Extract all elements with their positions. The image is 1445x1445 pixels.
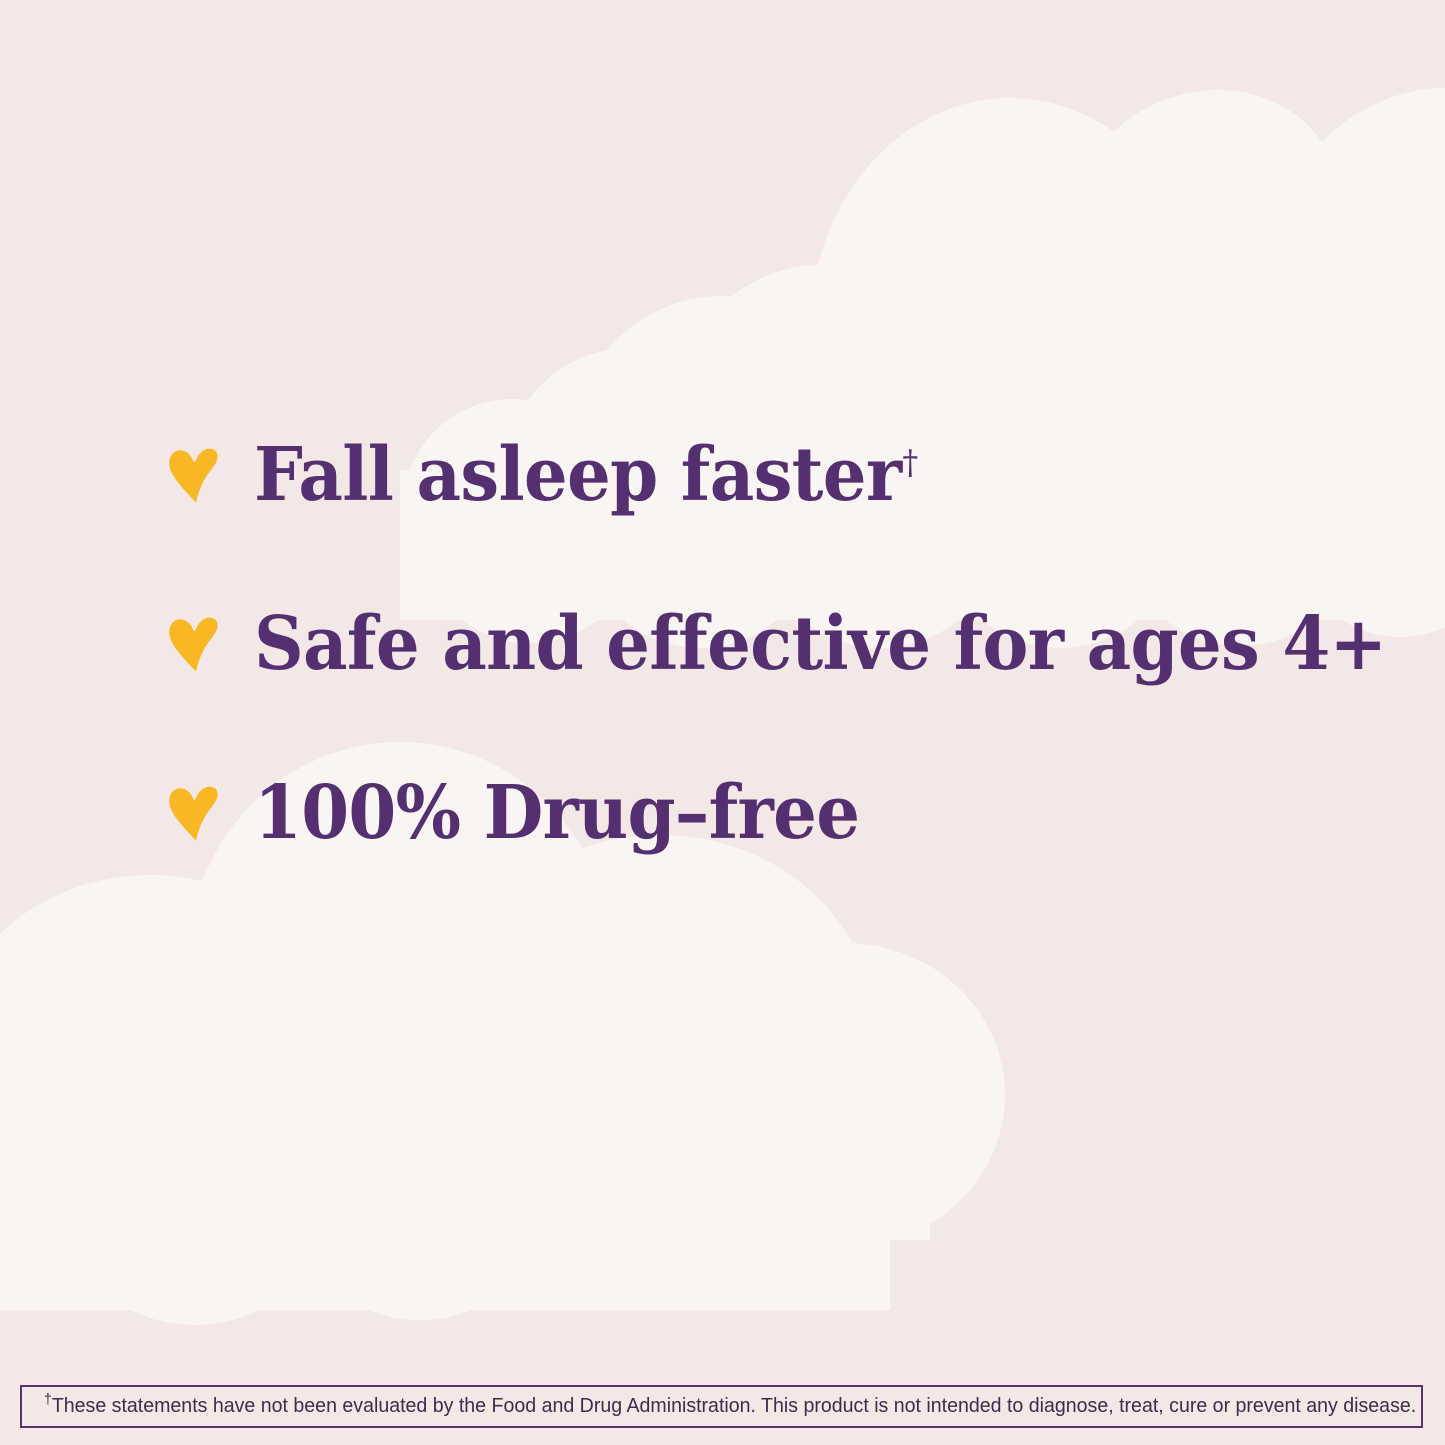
benefit-label: Fall asleep faster† xyxy=(254,438,918,512)
benefit-label: 100% Drug–free xyxy=(254,776,860,850)
benefits-list: Fall asleep faster† Safe and effective f… xyxy=(0,0,1445,1445)
benefit-item: 100% Drug–free xyxy=(168,765,906,861)
disclaimer-text: †These statements have not been evaluate… xyxy=(22,1396,1416,1417)
benefit-item: Fall asleep faster† xyxy=(168,427,967,523)
heart-icon xyxy=(168,445,220,505)
footnote-marker xyxy=(859,781,860,821)
footnote-marker xyxy=(1387,612,1388,652)
promo-card: Fall asleep faster† Safe and effective f… xyxy=(0,0,1445,1445)
heart-icon xyxy=(168,783,220,843)
footnote-marker: † xyxy=(901,443,917,483)
benefit-item: Safe and effective for ages 4+ xyxy=(168,596,1445,692)
heart-icon xyxy=(168,614,220,674)
disclaimer-box: †These statements have not been evaluate… xyxy=(20,1385,1423,1428)
benefit-label: Safe and effective for ages 4+ xyxy=(254,607,1387,681)
